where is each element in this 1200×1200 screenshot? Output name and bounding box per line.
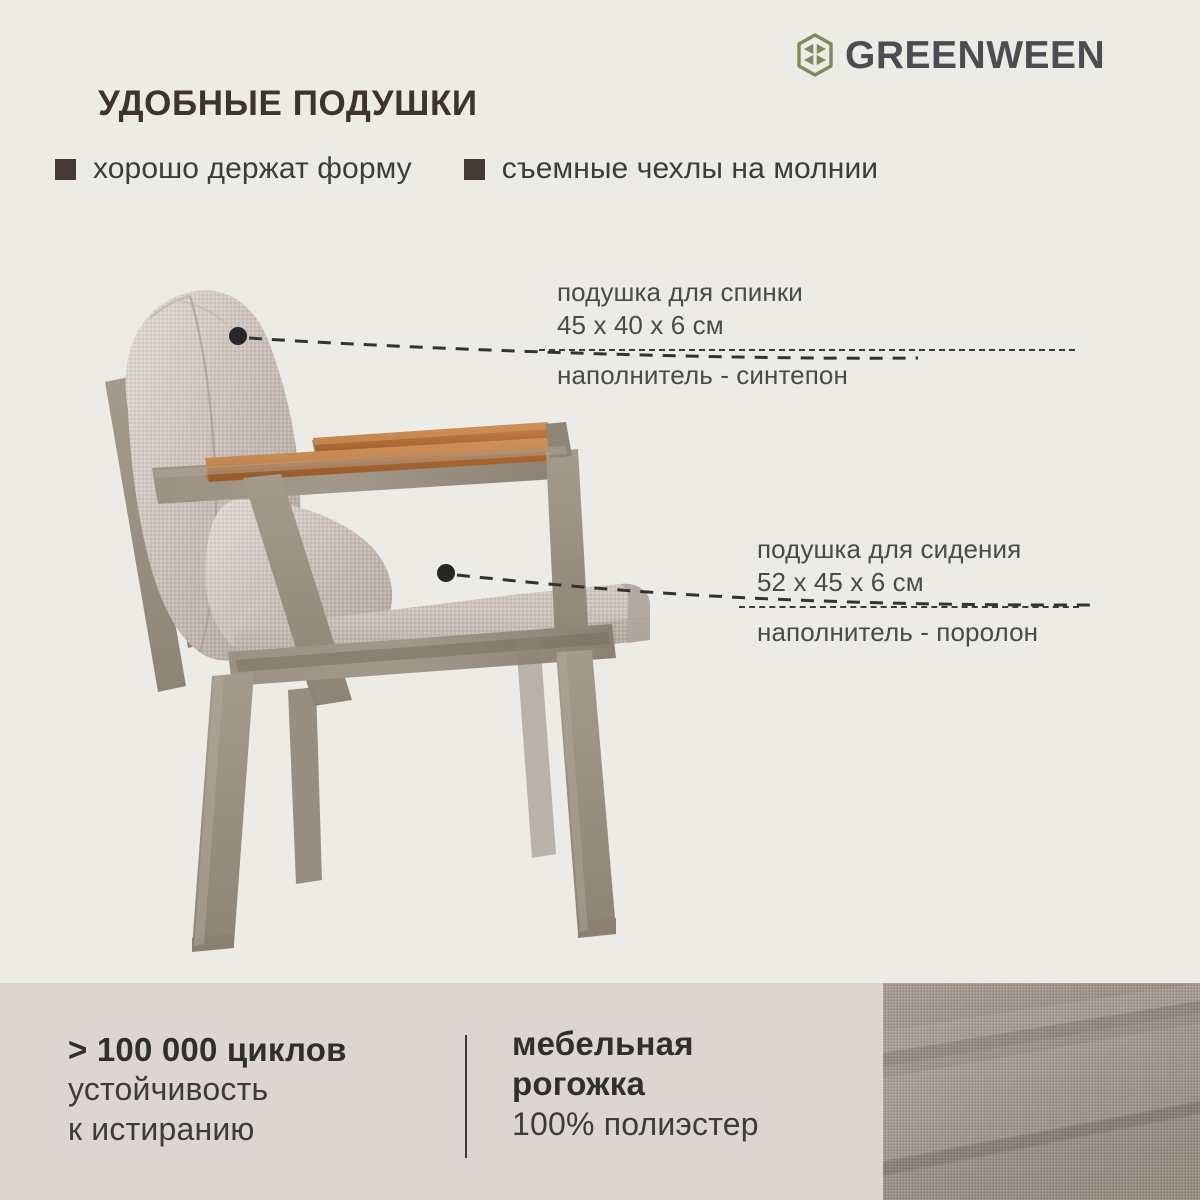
fabric-swatch <box>883 983 1200 1200</box>
feature-bullet-2-label: съемные чехлы на молнии <box>502 152 878 186</box>
brand-name: GREENWEEN <box>845 36 1105 75</box>
callout-back-cushion: подушка для спинки 45 x 40 x 6 см наполн… <box>557 276 1075 391</box>
feature-bullet-1-label: хорошо держат форму <box>93 152 412 186</box>
callout-seat-filler: наполнитель - поролон <box>757 617 1079 648</box>
bottom-info-band: > 100 000 циклов устойчивость к истирани… <box>0 983 1200 1200</box>
callout-back-filler: наполнитель - синтепон <box>557 360 1075 391</box>
callout-back-title: подушка для спинки <box>557 276 1075 309</box>
hexagon-leaf-icon <box>795 33 835 77</box>
durability-cycles: > 100 000 циклов <box>68 1030 347 1070</box>
callout-seat-dimensions: 52 x 45 x 6 см <box>757 566 1079 599</box>
material-line-1: мебельная <box>512 1024 759 1064</box>
square-bullet-icon <box>55 159 76 180</box>
durability-line-3: к истиранию <box>68 1110 347 1150</box>
callout-back-divider <box>539 349 1075 351</box>
material-composition: 100% полиэстер <box>512 1105 759 1145</box>
feature-bullet-2: съемные чехлы на молнии <box>464 152 878 186</box>
poster-canvas: GREENWEEN УДОБНЫЕ ПОДУШКИ хорошо держат … <box>0 0 1200 1200</box>
band-vertical-divider <box>465 1035 467 1158</box>
callout-seat-cushion: подушка для сидения 52 x 45 x 6 см напол… <box>757 533 1079 648</box>
material-line-2: рогожка <box>512 1064 759 1104</box>
product-image-armchair <box>0 0 1200 1000</box>
feature-bullet-1: хорошо держат форму <box>55 152 412 186</box>
square-bullet-icon <box>464 159 485 180</box>
callout-seat-divider <box>739 606 1079 608</box>
durability-line-2: устойчивость <box>68 1070 347 1110</box>
feature-bullets: хорошо держат форму съемные чехлы на мол… <box>55 152 878 186</box>
page-title: УДОБНЫЕ ПОДУШКИ <box>98 84 478 124</box>
callout-back-dimensions: 45 x 40 x 6 см <box>557 309 1075 342</box>
durability-block: > 100 000 циклов устойчивость к истирани… <box>68 1030 347 1150</box>
callout-seat-title: подушка для сидения <box>757 533 1079 566</box>
material-block: мебельная рогожка 100% полиэстер <box>512 1024 759 1144</box>
brand-logo[interactable]: GREENWEEN <box>795 33 1105 77</box>
